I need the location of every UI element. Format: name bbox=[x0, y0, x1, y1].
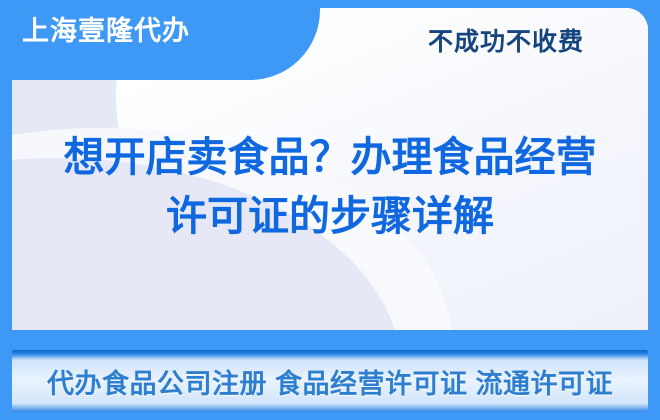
brand-name: 上海壹隆代办 bbox=[22, 18, 190, 45]
headline-line-2: 许可证的步骤详解 bbox=[0, 187, 660, 246]
keyword-bar: 代办食品公司注册 食品经营许可证 流通许可证 bbox=[12, 350, 648, 412]
slogan-text: 不成功不收费 bbox=[428, 22, 584, 58]
headline-line-1: 想开店卖食品？办理食品经营 bbox=[0, 128, 660, 187]
headline: 想开店卖食品？办理食品经营 许可证的步骤详解 bbox=[0, 128, 660, 247]
promo-banner: 上海壹隆代办 不成功不收费 想开店卖食品？办理食品经营 许可证的步骤详解 代办食… bbox=[0, 0, 660, 420]
keyword-bar-text: 代办食品公司注册 食品经营许可证 流通许可证 bbox=[47, 362, 613, 401]
